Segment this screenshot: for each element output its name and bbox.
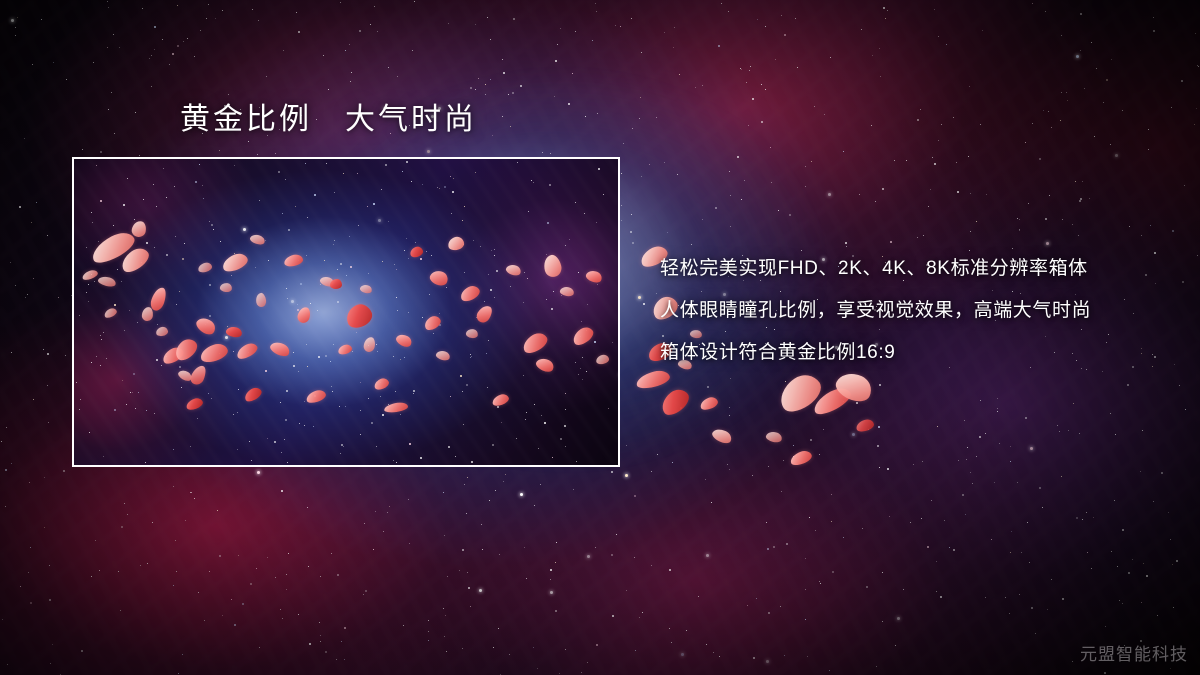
framed-photo <box>72 157 620 467</box>
body-line-1: 轻松完美实现FHD、2K、4K、8K标准分辨率箱体 <box>660 258 1180 280</box>
photo-starfield <box>74 159 618 465</box>
body-copy: 轻松完美实现FHD、2K、4K、8K标准分辨率箱体 人体眼睛瞳孔比例，享受视觉效… <box>660 258 1180 364</box>
slide-canvas: 黄金比例 大气时尚 轻松完美实现FHD、2K、4K、8K标准分辨率箱体 人体眼睛… <box>0 0 1200 675</box>
watermark: 元盟智能科技 <box>1080 640 1188 665</box>
body-line-3: 箱体设计符合黄金比例16:9 <box>660 342 1180 364</box>
body-line-2: 人体眼睛瞳孔比例，享受视觉效果，高端大气时尚 <box>660 300 1180 322</box>
petal <box>330 279 342 289</box>
page-title: 黄金比例 大气时尚 <box>180 102 477 138</box>
